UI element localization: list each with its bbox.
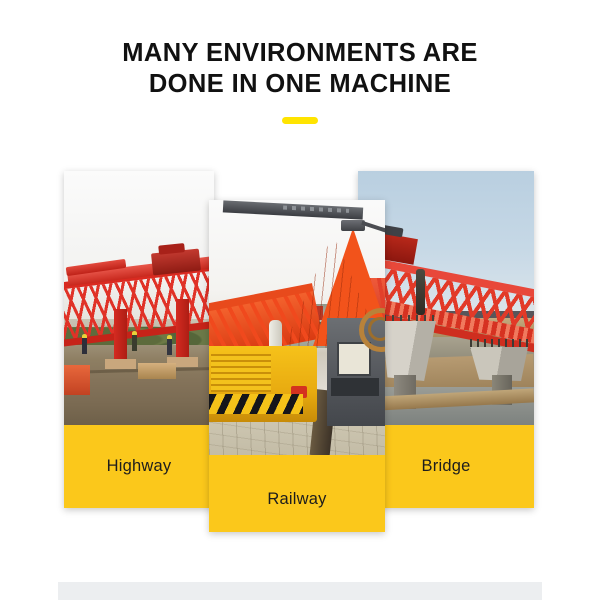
railway-photo [209,200,385,455]
gantry-leg-left [114,309,127,361]
card-bridge-label: Bridge [422,457,471,476]
page-title: MANY ENVIRONMENTS ARE DONE IN ONE MACHIN… [0,38,600,100]
hanging-lifting-gear [416,269,425,315]
yellow-tracked-machine [209,346,317,422]
page-root: MANY ENVIRONMENTS ARE DONE IN ONE MACHIN… [0,0,600,600]
card-railway-label-band: Railway [209,455,385,532]
yellow-accent-bar [282,117,318,124]
footer-band [58,582,542,600]
equipment-box [64,365,90,395]
timber-crate [138,363,176,379]
card-highway[interactable]: Highway [64,171,214,508]
worker-figure [167,339,172,355]
worker-figure [132,335,137,351]
card-railway-label: Railway [267,490,326,509]
page-title-line-2: DONE IN ONE MACHINE [0,69,600,100]
machine-grill [211,354,271,392]
card-highway-label: Highway [107,457,172,476]
card-highway-label-band: Highway [64,425,214,508]
hazard-chevron-stripes [209,394,303,414]
highway-photo [64,171,214,425]
page-title-line-1: MANY ENVIRONMENTS ARE [0,38,600,69]
gantry-leg-right [176,299,189,359]
card-railway[interactable]: Railway [209,200,385,532]
worker-figure [82,338,87,354]
